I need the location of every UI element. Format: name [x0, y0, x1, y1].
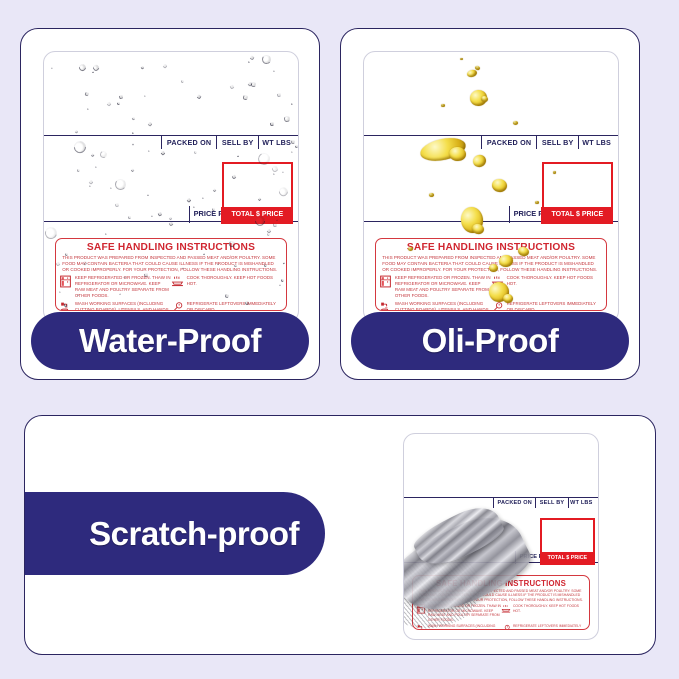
- safe-item: COOK THOROUGHLY. KEEP HOT FOODS HOT.: [501, 604, 586, 622]
- safe-handling-title: SAFE HANDLING INSTRUCTIONS: [379, 242, 603, 254]
- refrigerator-icon: [379, 275, 392, 288]
- banner-oil-proof: Oli-Proof: [351, 312, 629, 370]
- wash-hands-faucet-icon: [59, 301, 72, 310]
- label-field-row: PACKED ON SELL BY WT LBS: [44, 136, 298, 149]
- safe-handling-paragraph: THIS PRODUCT WAS PREPARED FROM INSPECTED…: [416, 589, 586, 603]
- label-field-row: PACKED ON SELL BY WT LBS: [404, 498, 598, 508]
- safe-item-text: WASH WORKING SURFACES (INCLUDING CUTTING…: [428, 624, 501, 630]
- feature-panel-scratch-proof: Scratch-proof PACKED ON SELL BY WT LBS P…: [24, 415, 656, 655]
- safe-item-text: COOK THOROUGHLY. KEEP HOT FOODS HOT.: [187, 275, 283, 287]
- safe-handling-items: KEEP REFRIGERATED OR FROZEN. THAW IN REF…: [416, 604, 586, 630]
- banner-water-proof: Water-Proof: [31, 312, 309, 370]
- safe-handling-title: SAFE HANDLING INSTRUCTIONS: [416, 579, 586, 588]
- safe-item: COOK THOROUGHLY. KEEP HOT FOODS HOT.: [491, 275, 603, 298]
- total-price-box: TOTAL $ PRICE: [542, 162, 613, 223]
- field-sell-by: SELL BY: [216, 136, 258, 149]
- feature-panel-water-proof: PACKED ON SELL BY WT LBS PRICE PER LB TO…: [20, 28, 320, 380]
- cooking-pan-icon: [171, 275, 184, 288]
- total-price-tag: TOTAL $ PRICE: [540, 552, 595, 565]
- wash-hands-faucet-icon: [379, 301, 392, 310]
- safe-handling-title: SAFE HANDLING INSTRUCTIONS: [59, 242, 283, 254]
- banner-label: Water-Proof: [79, 322, 261, 360]
- safe-item-text: REFRIGERATE LEFTOVERS IMMEDIATELY OR DIS…: [187, 301, 283, 310]
- banner-label: Scratch-proof: [89, 515, 299, 553]
- safe-item-text: KEEP REFRIGERATED OR FROZEN. THAW IN REF…: [75, 275, 171, 298]
- meat-label-card: PACKED ON SELL BY WT LBS PRICE PER LB TO…: [363, 51, 619, 323]
- label-artwork: PACKED ON SELL BY WT LBS PRICE PER LB TO…: [364, 52, 618, 322]
- field-packed-on: PACKED ON: [161, 136, 216, 149]
- safe-handling-items: KEEP REFRIGERATED OR FROZEN. THAW IN REF…: [59, 275, 283, 310]
- banner-label: Oli-Proof: [422, 322, 559, 360]
- field-wt-lbs: WT LBS: [578, 136, 618, 149]
- safe-item: WASH WORKING SURFACES (INCLUDING CUTTING…: [416, 624, 501, 630]
- label-header-blank-area: [44, 52, 298, 136]
- safe-item-text: KEEP REFRIGERATED OR FROZEN. THAW IN REF…: [428, 604, 501, 622]
- thermometer-icon: [501, 624, 511, 630]
- total-price-tag: TOTAL $ PRICE: [541, 207, 613, 224]
- safe-item-text: KEEP REFRIGERATED OR FROZEN. THAW IN REF…: [395, 275, 491, 298]
- label-artwork: PACKED ON SELL BY WT LBS PRICE PER LB TO…: [44, 52, 298, 322]
- safe-item: WASH WORKING SURFACES (INCLUDING CUTTING…: [59, 301, 171, 310]
- refrigerator-icon: [416, 604, 426, 614]
- field-packed-on: PACKED ON: [493, 498, 535, 508]
- safe-item-text: COOK THOROUGHLY. KEEP HOT FOODS HOT.: [513, 604, 586, 613]
- label-artwork: PACKED ON SELL BY WT LBS PRICE PER LB TO…: [404, 434, 598, 639]
- field-packed-on: PACKED ON: [481, 136, 536, 149]
- cooking-pan-icon: [491, 275, 504, 288]
- thermometer-icon: [171, 301, 184, 310]
- safe-item: REFRIGERATE LEFTOVERS IMMEDIATELY OR DIS…: [491, 301, 603, 310]
- label-header-blank-area: [404, 434, 598, 498]
- safe-handling-block: SAFE HANDLING INSTRUCTIONS THIS PRODUCT …: [55, 238, 288, 311]
- banner-scratch-proof: Scratch-proof: [24, 492, 325, 575]
- safe-handling-block: SAFE HANDLING INSTRUCTIONS THIS PRODUCT …: [375, 238, 608, 311]
- wash-hands-faucet-icon: [416, 624, 426, 630]
- thermometer-icon: [491, 301, 504, 310]
- safe-item-text: WASH WORKING SURFACES (INCLUDING CUTTING…: [395, 301, 491, 310]
- feature-panel-oil-proof: PACKED ON SELL BY WT LBS PRICE PER LB TO…: [340, 28, 640, 380]
- safe-item: REFRIGERATE LEFTOVERS IMMEDIATELY OR DIS…: [501, 624, 586, 630]
- cooking-pan-icon: [501, 604, 511, 614]
- meat-label-card: PACKED ON SELL BY WT LBS PRICE PER LB TO…: [43, 51, 299, 323]
- total-price-tag: TOTAL $ PRICE: [221, 207, 293, 224]
- safe-handling-paragraph: THIS PRODUCT WAS PREPARED FROM INSPECTED…: [379, 255, 603, 273]
- safe-item: WASH WORKING SURFACES (INCLUDING CUTTING…: [379, 301, 491, 310]
- safe-item-text: REFRIGERATE LEFTOVERS IMMEDIATELY OR DIS…: [513, 624, 586, 630]
- safe-item: REFRIGERATE LEFTOVERS IMMEDIATELY OR DIS…: [171, 301, 283, 310]
- safe-item: COOK THOROUGHLY. KEEP HOT FOODS HOT.: [171, 275, 283, 298]
- safe-handling-items: KEEP REFRIGERATED OR FROZEN. THAW IN REF…: [379, 275, 603, 310]
- field-sell-by: SELL BY: [536, 136, 578, 149]
- refrigerator-icon: [59, 275, 72, 288]
- safe-item-text: WASH WORKING SURFACES (INCLUDING CUTTING…: [75, 301, 171, 310]
- safe-handling-block: SAFE HANDLING INSTRUCTIONS THIS PRODUCT …: [412, 575, 590, 630]
- meat-label-card: PACKED ON SELL BY WT LBS PRICE PER LB TO…: [403, 433, 599, 640]
- field-wt-lbs: WT LBS: [568, 498, 598, 508]
- safe-item: KEEP REFRIGERATED OR FROZEN. THAW IN REF…: [59, 275, 171, 298]
- safe-item: KEEP REFRIGERATED OR FROZEN. THAW IN REF…: [416, 604, 501, 622]
- label-field-row: PACKED ON SELL BY WT LBS: [364, 136, 618, 149]
- product-feature-collage: PACKED ON SELL BY WT LBS PRICE PER LB TO…: [0, 0, 679, 679]
- safe-item: KEEP REFRIGERATED OR FROZEN. THAW IN REF…: [379, 275, 491, 298]
- safe-handling-paragraph: THIS PRODUCT WAS PREPARED FROM INSPECTED…: [59, 255, 283, 273]
- total-price-box: TOTAL $ PRICE: [540, 518, 594, 565]
- total-price-box: TOTAL $ PRICE: [222, 162, 293, 223]
- field-wt-lbs: WT LBS: [258, 136, 298, 149]
- field-sell-by: SELL BY: [535, 498, 567, 508]
- label-header-blank-area: [364, 52, 618, 136]
- safe-item-text: COOK THOROUGHLY. KEEP HOT FOODS HOT.: [507, 275, 603, 287]
- safe-item-text: REFRIGERATE LEFTOVERS IMMEDIATELY OR DIS…: [507, 301, 603, 310]
